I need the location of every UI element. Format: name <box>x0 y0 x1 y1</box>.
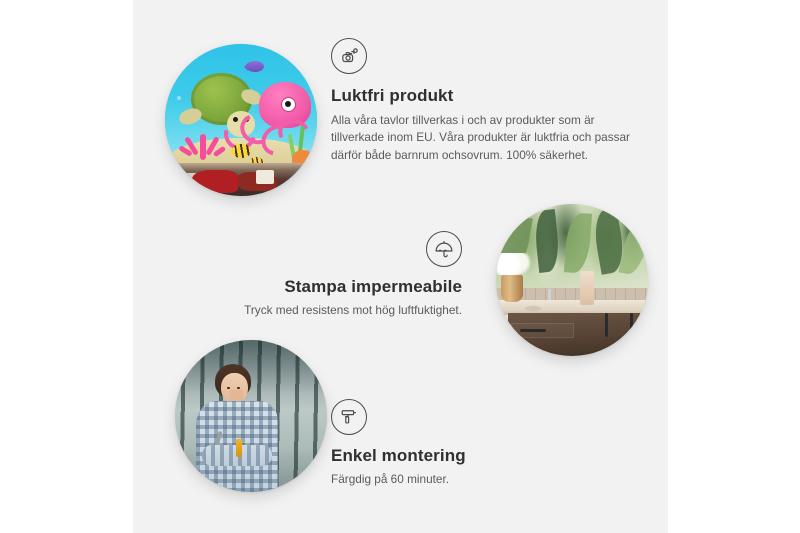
gold-vase <box>501 274 523 302</box>
drawer-handle <box>520 329 546 332</box>
room-preview-furniture <box>192 170 238 193</box>
yellow-fish <box>232 144 251 158</box>
underwater-kids-scene-photo <box>165 44 317 196</box>
octopus-eye <box>281 97 296 112</box>
icon-wrap <box>170 231 462 267</box>
feature-heading: Enkel montering <box>331 445 611 466</box>
purple-fish <box>246 61 264 72</box>
soap-dish <box>525 306 541 311</box>
painter-woman-forest-photo <box>175 340 327 492</box>
room-preview-lamp <box>256 170 274 184</box>
feature-heading: Stampa impermeabile <box>170 276 462 297</box>
feature-block-waterproof: Stampa impermeabile Tryck med resistens … <box>170 231 462 319</box>
umbrella-icon <box>426 231 462 267</box>
cabinet-handle <box>605 313 608 337</box>
bathroom-tropical-wallpaper-photo <box>496 204 648 356</box>
woman-eye-left <box>227 387 230 389</box>
white-flowers <box>496 253 532 275</box>
cabinet-handle <box>630 313 633 337</box>
product-feature-infographic: Luktfri produkt Alla våra tavlor tillver… <box>0 0 800 533</box>
bubble-icon <box>177 96 181 100</box>
icon-wrap <box>331 38 631 74</box>
feature-block-odourless: Luktfri produkt Alla våra tavlor tillver… <box>331 38 631 164</box>
coral <box>180 126 226 159</box>
feature-body: Färgdig på 60 minuter. <box>331 471 611 488</box>
feature-heading: Luktfri produkt <box>331 85 631 106</box>
hand-tool <box>236 439 242 457</box>
paint-roller-icon <box>331 399 367 435</box>
soap-dispenser <box>580 271 594 305</box>
no-fragrance-icon <box>331 38 367 74</box>
feature-body: Alla våra tavlor tillverkas i och av pro… <box>331 112 631 164</box>
feature-block-easy-install: Enkel montering Färgdig på 60 minuter. <box>331 399 611 488</box>
icon-wrap <box>331 399 611 435</box>
feature-body: Tryck med resistens mot hög luftfuktighe… <box>170 302 462 319</box>
